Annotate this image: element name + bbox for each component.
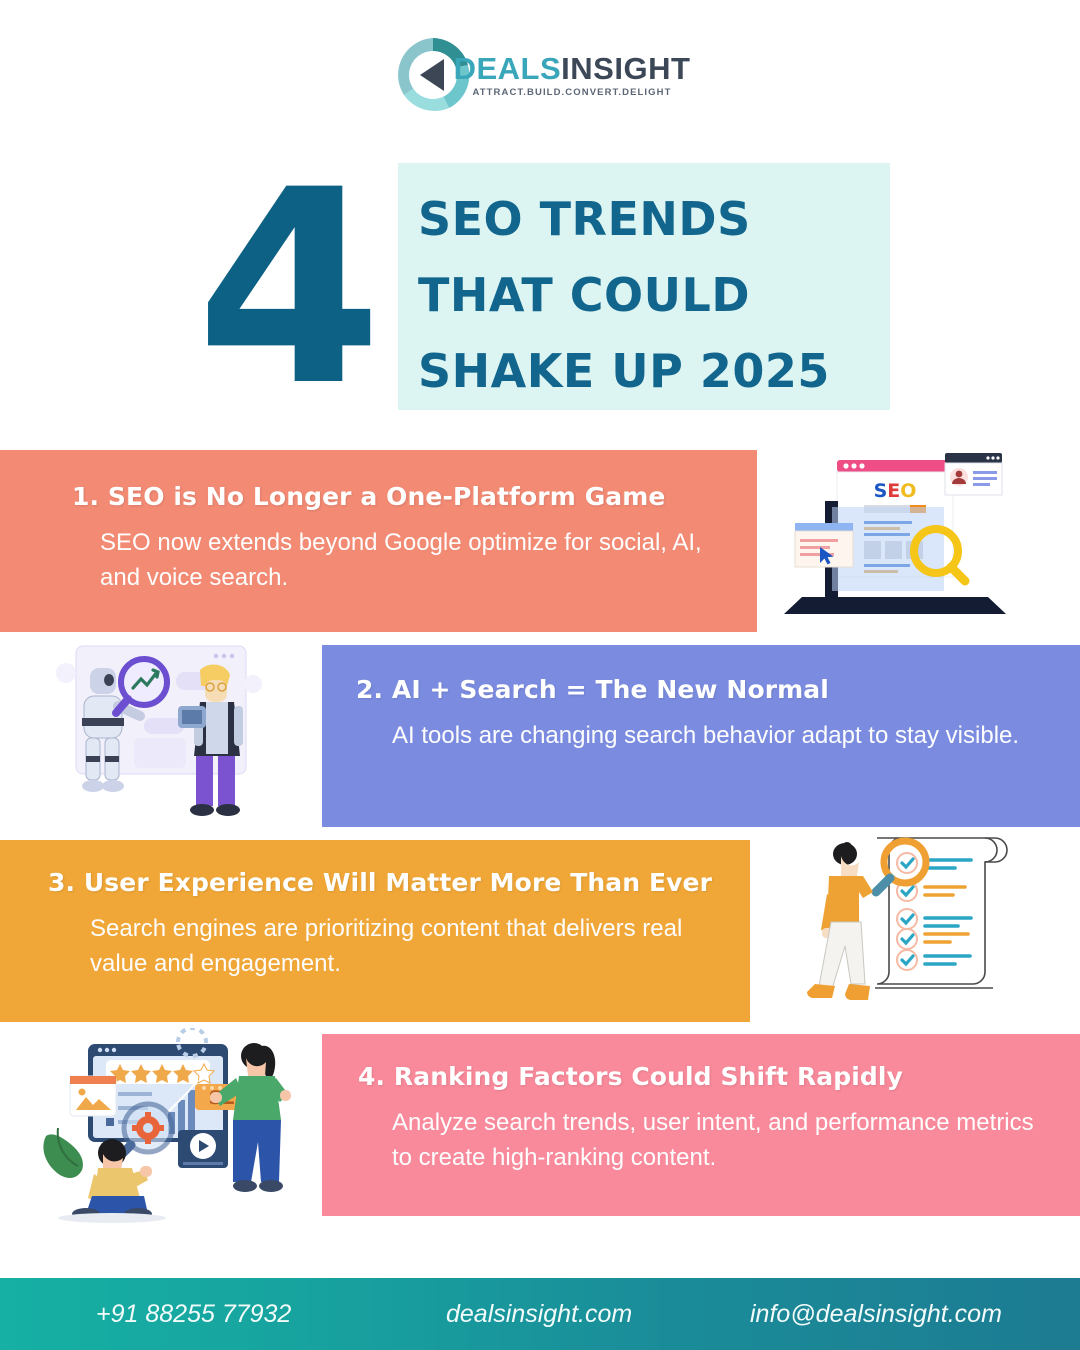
logo-title: DEALSINSIGHT: [454, 53, 691, 84]
logo: DEALSINSIGHT ATTRACT.BUILD.CONVERT.DELIG…: [390, 32, 691, 118]
footer-email[interactable]: info@dealsinsight.com: [750, 1300, 1002, 1329]
trend-3-body: Search engines are prioritizing content …: [90, 911, 720, 981]
infographic-page: DEALSINSIGHT ATTRACT.BUILD.CONVERT.DELIG…: [0, 0, 1080, 1350]
footer-website[interactable]: dealsinsight.com: [446, 1300, 632, 1329]
trend-4-heading: 4. Ranking Factors Could Shift Rapidly: [358, 1062, 1040, 1091]
title-line-3: SHAKE UP 2025: [418, 333, 898, 409]
robot-and-analyst-illustration: [48, 640, 318, 835]
woman-checklist-magnifier-illustration: [785, 832, 1035, 1027]
trend-1-number: 1.: [72, 482, 99, 511]
trend-block-4: 4. Ranking Factors Could Shift Rapidly A…: [322, 1034, 1080, 1216]
contact-footer: +91 88255 77932 dealsinsight.com info@de…: [0, 1278, 1080, 1350]
big-number-4: 4: [196, 155, 372, 423]
trend-block-1: 1. SEO is No Longer a One-Platform Game …: [0, 450, 757, 632]
trend-2-heading: 2. AI + Search = The New Normal: [356, 675, 1040, 704]
trend-1-heading: 1. SEO is No Longer a One-Platform Game: [72, 482, 717, 511]
trend-2-title: AI + Search = The New Normal: [392, 675, 829, 704]
trend-1-title: SEO is No Longer a One-Platform Game: [108, 482, 666, 511]
logo-tagline: ATTRACT.BUILD.CONVERT.DELIGHT: [454, 87, 691, 98]
logo-title-insight: INSIGHT: [561, 51, 690, 86]
trend-4-number: 4.: [358, 1062, 385, 1091]
logo-title-deals: DEALS: [454, 51, 562, 86]
seo-rating-team-illustration: SEO: [40, 1028, 320, 1223]
brand-header: DEALSINSIGHT ATTRACT.BUILD.CONVERT.DELIG…: [0, 30, 1080, 120]
seo-laptop-search-illustration: SEO: [780, 445, 1040, 640]
trend-4-body: Analyze search trends, user intent, and …: [392, 1105, 1040, 1175]
trend-block-2: 2. AI + Search = The New Normal AI tools…: [322, 645, 1080, 827]
logo-wordmark: DEALSINSIGHT ATTRACT.BUILD.CONVERT.DELIG…: [454, 53, 691, 98]
trend-2-number: 2.: [356, 675, 383, 704]
trend-3-number: 3.: [48, 868, 75, 897]
page-title: SEO TRENDS THAT COULD SHAKE UP 2025: [418, 181, 898, 409]
trend-4-title: Ranking Factors Could Shift Rapidly: [394, 1062, 903, 1091]
trend-3-title: User Experience Will Matter More Than Ev…: [84, 868, 712, 897]
trend-2-body: AI tools are changing search behavior ad…: [392, 718, 1040, 753]
trend-1-body: SEO now extends beyond Google optimize f…: [100, 525, 717, 595]
footer-phone[interactable]: +91 88255 77932: [96, 1300, 291, 1329]
svg-text:SEO: SEO: [874, 480, 917, 502]
trend-block-3: 3. User Experience Will Matter More Than…: [0, 840, 750, 1022]
trend-3-heading: 3. User Experience Will Matter More Than…: [48, 868, 720, 897]
title-area: 4 SEO TRENDS THAT COULD SHAKE UP 2025: [0, 163, 1080, 413]
title-line-1: SEO TRENDS: [418, 181, 898, 257]
title-line-2: THAT COULD: [418, 257, 898, 333]
